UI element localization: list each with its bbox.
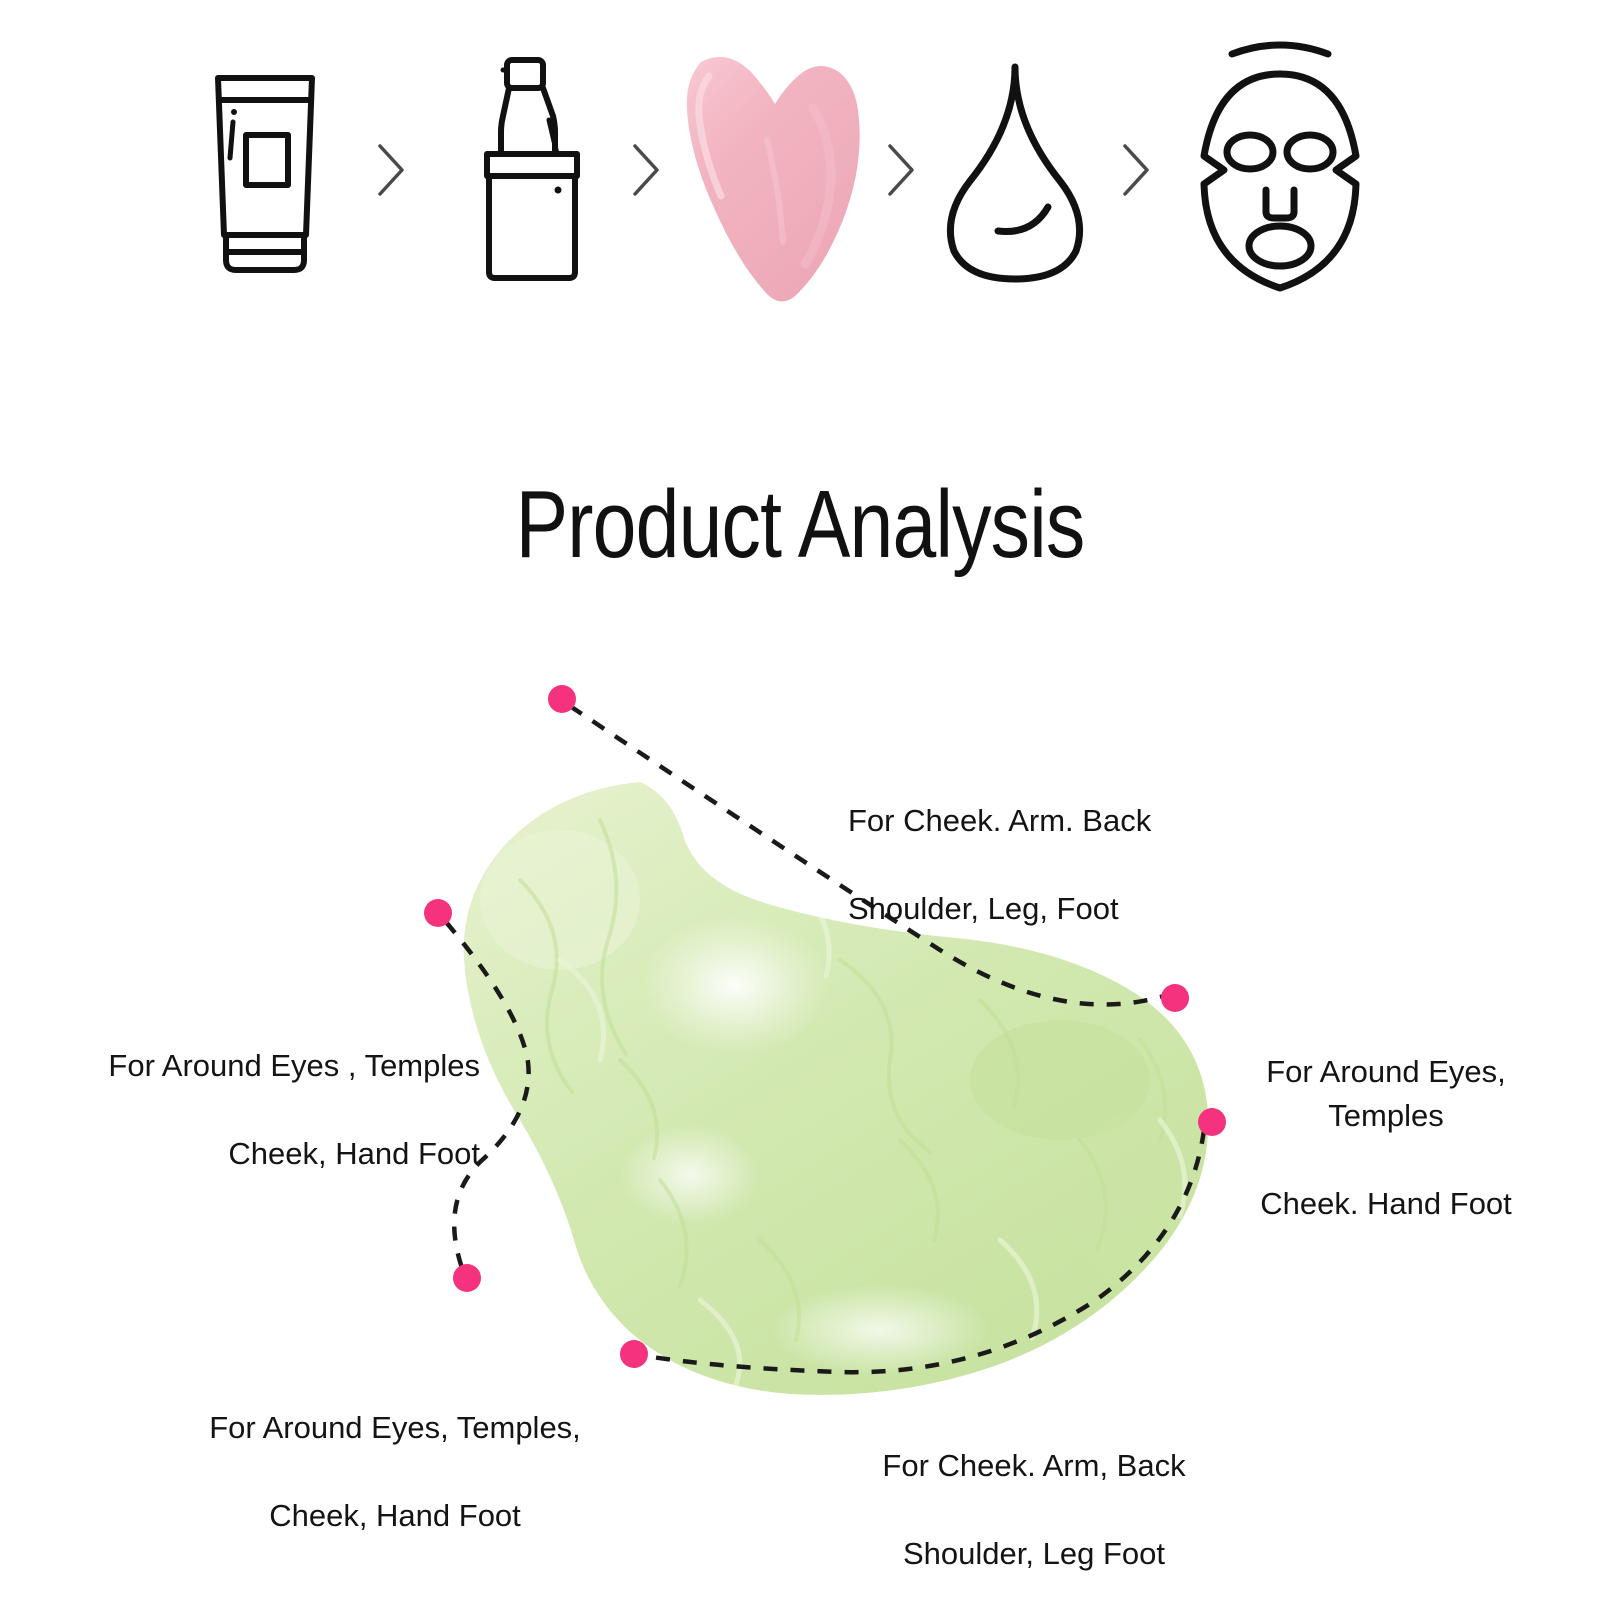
callout-top-right-line1: For Cheek. Arm. Back (848, 799, 1178, 843)
callout-bottom-left-line1: For Around Eyes, Temples, (200, 1406, 590, 1450)
callout-top-right-line2: Shoulder, Leg, Foot (848, 887, 1178, 931)
callout-right-middle-line2: Cheek. Hand Foot (1216, 1182, 1556, 1226)
callout-left-upper: For Around Eyes , Temples Cheek, Hand Fo… (80, 1000, 480, 1220)
marker-dot-right-upper[interactable] (1161, 984, 1189, 1012)
callout-bottom-right-line2: Shoulder, Leg Foot (874, 1532, 1194, 1576)
callout-bottom-right: For Cheek. Arm, Back Shoulder, Leg Foot (874, 1400, 1194, 1600)
callout-bottom-right-line1: For Cheek. Arm, Back (874, 1444, 1194, 1488)
callout-left-upper-line1: For Around Eyes , Temples (80, 1044, 480, 1088)
callout-top-right: For Cheek. Arm. Back Shoulder, Leg, Foot (848, 755, 1178, 975)
callout-bottom-left-line2: Cheek, Hand Foot (200, 1494, 590, 1538)
product-analysis-page: Product Analysis (0, 0, 1600, 1600)
marker-dot-left-upper[interactable] (424, 899, 452, 927)
callout-left-upper-line2: Cheek, Hand Foot (80, 1132, 480, 1176)
marker-dot-left-lower[interactable] (453, 1264, 481, 1292)
gua-sha-diagram (0, 0, 1600, 1600)
callout-right-middle-line1: For Around Eyes, Temples (1216, 1050, 1556, 1138)
marker-dot-top[interactable] (548, 685, 576, 713)
marker-dot-bottom[interactable] (620, 1340, 648, 1368)
callout-right-middle: For Around Eyes, Temples Cheek. Hand Foo… (1216, 1006, 1556, 1270)
callout-bottom-left: For Around Eyes, Temples, Cheek, Hand Fo… (200, 1362, 590, 1582)
